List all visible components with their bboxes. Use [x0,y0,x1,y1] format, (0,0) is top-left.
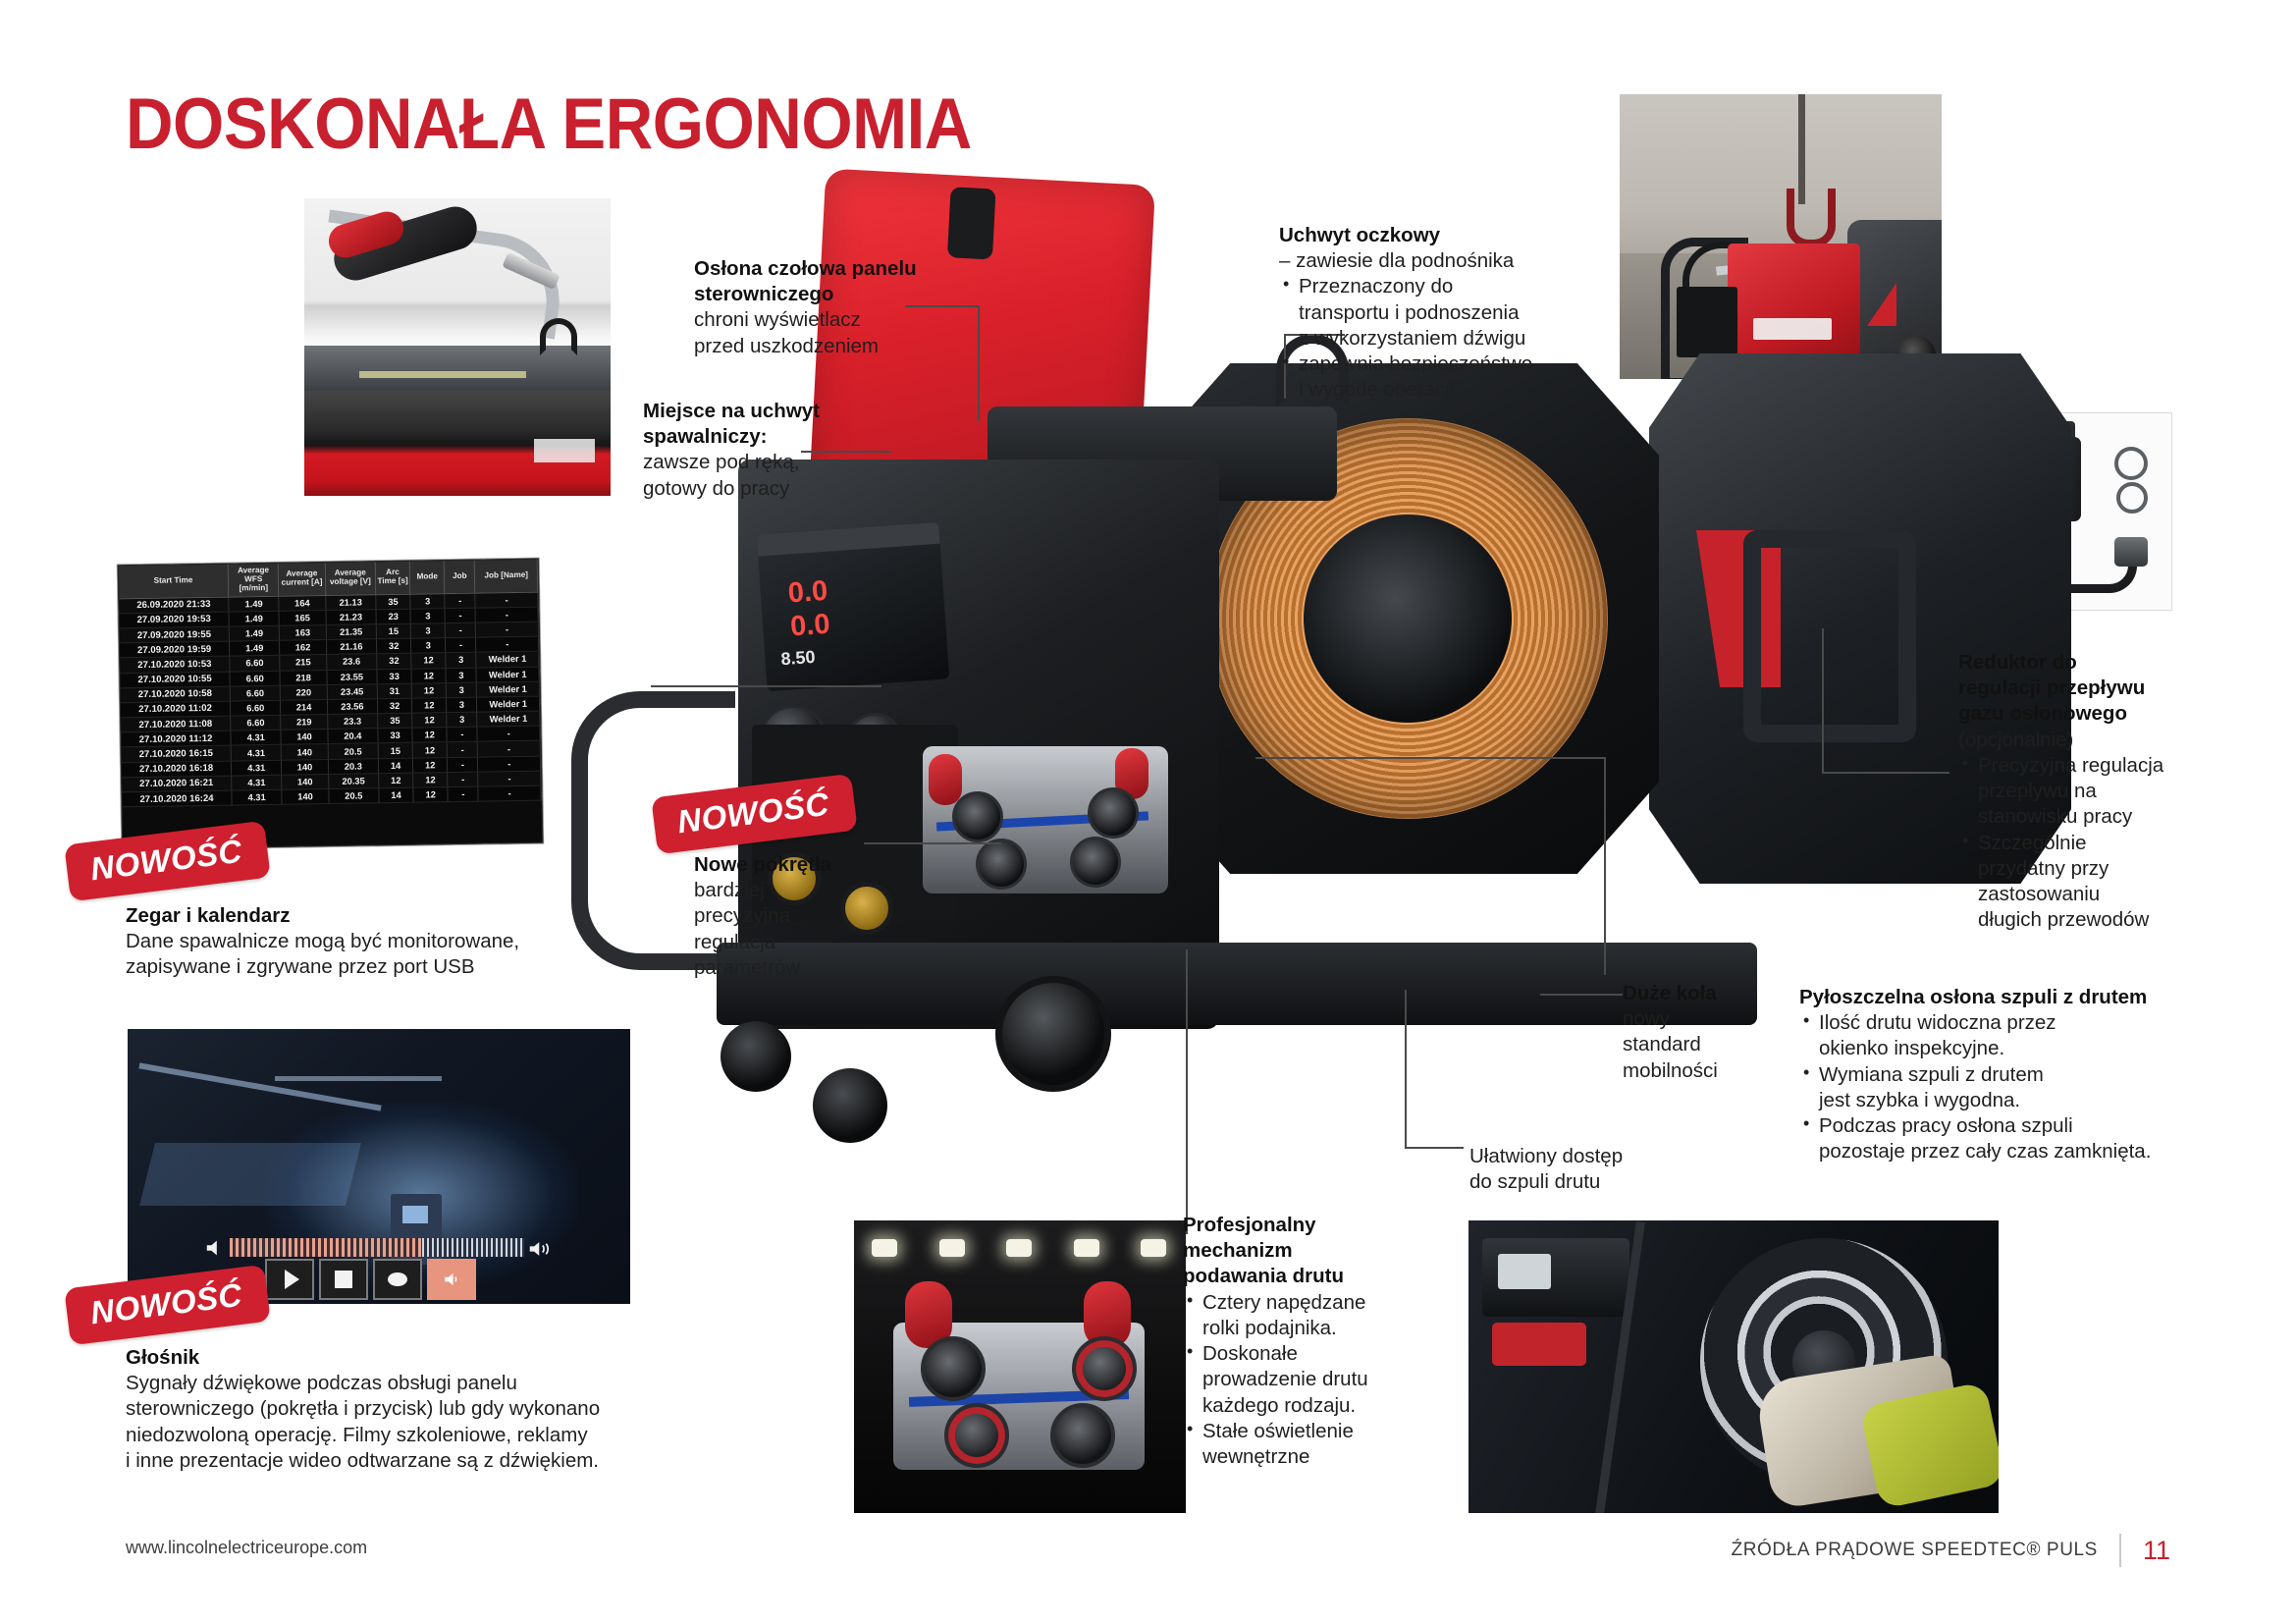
callout-subheading: – zawiesie dla podnośnika [1279,248,1583,274]
table-cell: 1.49 [229,611,280,626]
volume-meter-right [422,1238,524,1257]
bullet-line: wewnętrzne [1202,1444,1428,1470]
table-cell: 21.35 [326,624,377,640]
callout-body: bardziej [694,878,881,903]
callout-body: parametrów [694,955,881,981]
callout-panel-cover: Osłona czołowa panelu sterowniczego chro… [694,256,920,359]
table-cell: 27.10.2020 16:21 [122,776,232,792]
table-cell: - [476,622,539,637]
table-cell: 4.31 [231,731,282,746]
table-cell: 3 [411,638,446,654]
table-cell: - [448,772,478,787]
table-cell: 32 [377,654,411,670]
bullet-line: przepływu na [1978,779,2204,804]
callout-heading: Miejsce na uchwyt [643,399,869,424]
drive-roll [944,1403,1009,1468]
nowosc-badge: NOWOŚĆ [651,774,858,855]
bullet-line: Cztery napędzane [1202,1290,1428,1316]
footer-series-label: ŹRÓDŁA PRĄDOWE SPEEDTEC® PULS [1731,1540,2097,1561]
bullet-line: Ilość drutu widoczna przez [1819,1010,2212,1036]
table-cell: 3 [410,608,445,623]
table-cell: Welder 1 [476,667,539,682]
table-cell: 21.13 [325,594,376,610]
callout-heading: Reduktor do [1958,650,2204,676]
page-title: DOSKONAŁA ERGONOMIA [126,88,972,160]
led-light [939,1239,965,1257]
table-cell: 140 [281,730,328,745]
table-cell: Welder 1 [477,711,540,727]
nowosc-badge: NOWOŚĆ [64,821,271,902]
callout-body: standard [1623,1032,1770,1057]
table-cell: 3 [446,668,476,683]
leader-panel-cover-vert [978,305,980,421]
leader-wire-feeder-vert [1186,949,1188,1234]
table-cell: 32 [377,698,411,714]
table-cell: 163 [280,625,327,641]
feeder-roll [1070,837,1121,888]
panel-display-shape [1498,1254,1551,1289]
table-cell: 12 [413,787,448,803]
bullet-line: i wygodę operacji [1299,377,1583,403]
list-item: Podczas pracy osłona szpuli pozostaje pr… [1799,1113,2212,1164]
table-cell: - [478,756,541,772]
table-cell: 215 [280,655,327,671]
table-cell: - [446,637,476,653]
leader-dust-cover-vert [1604,757,1606,975]
table-cell: 27.09.2020 19:55 [120,626,230,643]
table-cell: 32 [376,638,410,654]
table-cell: 15 [378,743,412,759]
callout-body: Ułatwiony dostęp [1469,1144,1695,1169]
photo-wire-feeder [854,1220,1186,1513]
col-job: Job [445,561,476,594]
table-cell: - [477,726,540,741]
callout-heading: spawalniczy: [643,424,869,450]
rating-label-shape [534,439,595,462]
display-value-bottom: 8.50 [780,647,816,670]
table-cell: 23.6 [326,654,377,670]
callout-dust-cover: Pyłoszczelna osłona szpuli z drutem Iloś… [1799,985,2212,1165]
table-cell: 15 [376,623,410,639]
volume-button[interactable] [427,1259,476,1300]
table-cell: - [475,592,538,608]
table-cell: 20.5 [328,743,379,759]
callout-heading: podawania drutu [1183,1264,1428,1289]
table-cell: 14 [379,787,413,803]
callout-body: mobilności [1623,1058,1770,1084]
table-cell: - [447,742,477,758]
page-number: 11 [2143,1536,2170,1566]
yellow-strip-shape [359,371,526,378]
bullet-line: Stałe oświetlenie [1202,1419,1428,1444]
bullet-line: transportu i podnoszenia [1299,300,1583,326]
bullet-line: Doskonałe [1202,1341,1428,1367]
callout-big-wheels: Duże koła nowy standard mobilności [1623,981,1770,1084]
feeder-roll [1088,787,1139,839]
callout-body: zapisywane i zgrywane przez port USB [126,954,675,980]
list-item: Precyzyjna regulacja przepływu na stanow… [1958,753,2204,831]
table-cell: 21.23 [326,610,377,625]
photo-spool-change [1468,1220,1999,1513]
table-cell: - [478,741,541,757]
table-cell: 164 [279,595,326,611]
callout-heading: gazu osłonowego [1958,701,2204,727]
photo-torch-holder [304,198,611,496]
table-cell: - [475,607,538,623]
callout-body: do szpuli drutu [1469,1169,1695,1195]
callout-heading: Nowe pokrętła [694,852,881,878]
callout-body: niedozwoloną operację. Filmy szkoleniowe… [126,1423,734,1448]
table-cell: 3 [410,593,445,609]
table-cell: 6.60 [230,685,281,701]
table-cell: 6.60 [230,671,281,686]
table-cell: 12 [379,773,413,788]
table-cell: - [446,623,476,638]
list-item: zapewnia bezpieczeństwo i wygodę operacj… [1279,352,1583,403]
table-cell: - [478,771,541,786]
leader-dust-cover [1255,757,1604,759]
nowosc-badge: NOWOŚĆ [64,1265,271,1346]
callout-heading: Głośnik [126,1345,734,1371]
caster-wheel-rear [721,1021,791,1092]
bullet-line: pozostaje przez cały czas zamknięta. [1819,1139,2212,1164]
table-cell: 31 [377,683,411,699]
bullet-line: z wykorzystaniem dźwigu [1299,326,1583,352]
stop-button[interactable] [319,1259,368,1300]
callout-speaker: Głośnik Sygnały dźwiękowe podczas obsług… [126,1345,734,1474]
table-cell: 3 [447,697,477,713]
callout-bullet-list: Ilość drutu widoczna przez okienko inspe… [1799,1010,2212,1164]
brochure-page: DOSKONAŁA ERGONOMIA [0,0,2296,1624]
table-cell: 140 [282,774,329,789]
table-cell: 4.31 [231,745,282,761]
table-cell: 27.09.2020 19:59 [120,641,230,658]
caster-wheel-front [813,1068,887,1143]
callout-bullet-list: Przeznaczony do transportu i podnoszenia… [1279,274,1583,403]
callout-new-knobs: Nowe pokrętła bardziej precyzyjna regula… [694,852,881,981]
callout-body: przed uszkodzeniem [694,334,920,359]
callout-subheading: (opcjonalnie) [1958,728,2204,753]
video-controls[interactable] [265,1259,489,1300]
table-cell: - [448,757,478,773]
bullet-line: Wymiana szpuli z drutem [1819,1062,2212,1088]
table-cell: - [448,786,478,802]
callout-body: Dane spawalnicze mogą być monitorowane, [126,929,675,954]
table-cell: 12 [412,728,447,743]
table-cell: 162 [280,640,327,656]
callout-heading: mechanizm [1183,1238,1428,1264]
callout-spool-access: Ułatwiony dostęp do szpuli drutu [1469,1144,1695,1195]
table-cell: 27.10.2020 11:02 [121,701,231,718]
bullet-line: zastosowaniu [1978,882,2204,907]
bullet-line: każdego rodzaju. [1202,1393,1428,1419]
feeder-roll [976,839,1027,890]
list-item: Szczególnie przydatny przy zastosowaniu … [1958,831,2204,934]
table-cell: 20.4 [328,729,379,744]
table-cell: 140 [282,759,329,775]
col-job-name: Job [Name] [475,560,538,593]
col-avg-wfs: Average WFS [m/min] [228,564,279,597]
table-cell: 140 [282,744,329,760]
table-cell: 35 [378,713,412,729]
table-cell: 33 [377,669,411,684]
callout-body: gotowy do pracy [643,476,869,502]
ceiling-beam-shape [138,1062,381,1110]
leader-big-wheels [1540,994,1623,996]
photo-video-player [128,1029,630,1304]
leader-spool-access-vert [1405,990,1407,1147]
callout-heading: Pyłoszczelna osłona szpuli z drutem [1799,985,2212,1010]
led-light [1141,1239,1166,1257]
table-cell: 20.3 [328,758,379,774]
play-button[interactable] [265,1259,314,1300]
callout-bullet-list: Cztery napędzane rolki podajnika. Doskon… [1183,1290,1428,1471]
footer-right-group: ŹRÓDŁA PRĄDOWE SPEEDTEC® PULS 11 [1731,1534,2170,1567]
table-cell: Welder 1 [477,696,540,712]
table-cell: 27.10.2020 11:12 [121,731,231,747]
led-strip [872,1236,1166,1260]
table-cell: 219 [281,715,328,731]
list-item: Wymiana szpuli z drutem jest szybka i wy… [1799,1062,2212,1113]
bullet-line: jest szybka i wygodna. [1819,1088,2212,1113]
feeder-pressure-knob-left [929,754,962,805]
display-value-top: 0.0 [787,575,829,611]
callout-clock-calendar: Zegar i kalendarz Dane spawalnicze mogą … [126,903,675,981]
bullet-line: okienko inspekcyjne. [1819,1036,2212,1061]
bullet-line: Precyzyjna regulacja [1978,753,2204,779]
callout-body: i inne prezentacje wideo odtwarzane są z… [126,1448,734,1474]
callout-gas-regulator: Reduktor do regulacji przepływu gazu osł… [1958,650,2204,934]
bullet-line: Szczególnie [1978,831,2204,856]
speaker-icon-right [528,1235,554,1263]
callout-heading: sterowniczego [694,282,920,307]
panel-red-shape [1492,1323,1586,1366]
table-cell: 35 [376,594,410,610]
drive-roll [921,1336,986,1401]
drive-roll [1050,1403,1115,1468]
bullet-line: zapewnia bezpieczeństwo [1299,352,1583,377]
table-cell: 3 [447,682,477,698]
callout-body: sterowniczego (pokrętła i przycisk) lub … [126,1396,734,1422]
table-cell: 12 [412,698,447,714]
display-value-mid: 0.0 [789,609,831,644]
table-cell: - [445,593,475,609]
clip-lower-shape [2116,482,2148,514]
table-cell: 27.10.2020 16:15 [122,746,232,763]
list-item: Doskonałe prowadzenie drutu każdego rodz… [1183,1341,1428,1419]
table-cell: 12 [412,713,447,729]
led-light [1006,1239,1032,1257]
table-cell: 1.49 [230,640,281,656]
callout-lifting-eye: Uchwyt oczkowy – zawiesie dla podnośnika… [1279,223,1583,404]
callout-torch-holder: Miejsce na uchwyt spawalniczy: zawsze po… [643,399,869,502]
lid-latch [947,187,996,259]
table-cell: 20.5 [329,788,380,804]
callout-body: nowy [1623,1006,1770,1032]
table-cell: 33 [378,728,412,743]
table-cell: 26.09.2020 21:33 [119,597,229,614]
table-cell: 27.10.2020 10:55 [120,672,230,688]
list-item: Cztery napędzane rolki podajnika. [1183,1290,1428,1341]
table-cell: 20.35 [328,774,379,789]
footer-website[interactable]: www.lincolnelectriceurope.com [126,1538,367,1558]
col-arc-time: Arc Time [s] [375,562,410,595]
led-light [872,1239,897,1257]
table-cell: 23.45 [327,683,378,699]
bullet-line: stanowisku pracy [1978,804,2204,830]
hose-nut-shape [2114,537,2148,567]
list-item: Stałe oświetlenie wewnętrzne [1183,1419,1428,1470]
callout-heading: Zegar i kalendarz [126,903,675,929]
callout-body: chroni wyświetlacz [694,307,920,333]
table-cell: 27.10.2020 10:53 [120,656,230,673]
footer-divider [2119,1534,2121,1567]
leader-spool-access [1405,1147,1464,1149]
callout-body: zawsze pod ręką, [643,450,869,475]
table-cell: 3 [446,652,476,668]
big-wheel [995,976,1111,1092]
weld-log-table: Start Time Average WFS [m/min] Average c… [119,560,542,808]
leader-new-knobs [864,842,1001,844]
display-topbar [757,522,940,557]
bullet-line: przydatny przy [1978,856,2204,882]
list-item: Przeznaczony do transportu i podnoszenia… [1279,274,1583,352]
callout-heading: Profesjonalny [1183,1213,1428,1238]
leader-gas-regulator-vert [1822,628,1824,772]
weld-log-table-photo: Start Time Average WFS [m/min] Average c… [118,559,544,850]
table-cell: 12 [411,682,446,698]
col-start-time: Start Time [119,565,229,599]
table-cell: 27.09.2020 19:53 [120,612,230,628]
callout-heading: Osłona czołowa panelu [694,256,920,282]
table-cell: 1.49 [229,625,280,641]
ceiling-light-shape [275,1076,442,1081]
table-cell: 23.3 [327,714,378,730]
table-cell: 218 [280,670,327,685]
callout-body: regulacja [694,930,881,955]
callout-body: Sygnały dźwiękowe podczas obsługi panelu [126,1371,734,1396]
table-cell: 27.10.2020 10:58 [121,686,231,703]
table-cell: 3 [447,712,477,728]
drive-roll [1072,1336,1137,1401]
table-cell: 6.60 [230,700,281,716]
table-cell: 12 [413,772,448,787]
speaker-icon-left [204,1235,226,1261]
table-cell: 6.60 [231,715,282,731]
hook-shape [540,318,577,355]
control-display: 0.0 0.0 8.50 [757,522,950,692]
table-cell: 4.31 [231,760,282,776]
table-cell: 214 [281,699,328,715]
table-cell: 12 [413,757,448,773]
callout-heading: regulacji przepływu [1958,676,2204,701]
badge-nowosc-knobs-wrap: NOWOŚĆ [654,785,855,842]
badge-nowosc-clock-wrap: NOWOŚĆ [67,833,268,890]
table-cell: 21.16 [326,639,377,655]
table-cell: 23 [376,609,410,624]
callout-body: precyzyjna [694,903,881,929]
table-cell: 23.55 [327,669,378,684]
callout-wire-feeder: Profesjonalny mechanizm podawania drutu … [1183,1213,1428,1470]
bullet-line: Przeznaczony do [1299,274,1583,299]
list-item: Ilość drutu widoczna przez okienko inspe… [1799,1010,2212,1061]
table-body: 26.09.2020 21:331.4916421.13353--27.09.2… [119,592,541,807]
table-cell: 12 [411,668,446,683]
table-cell: 140 [282,789,329,805]
led-light [1074,1239,1099,1257]
table-cell: 3 [410,623,445,639]
feeder-roll [952,791,1003,842]
eject-button[interactable] [373,1259,422,1300]
table-cell: 12 [412,742,447,758]
callout-heading: Uchwyt oczkowy [1279,223,1583,248]
leader-weld-log [651,685,881,687]
callout-bullet-list: Precyzyjna regulacja przepływu na stanow… [1958,753,2204,934]
table-cell: 6.60 [230,656,281,672]
table-cell: 27.10.2020 11:08 [121,716,231,732]
table-cell: - [447,727,477,742]
table-cell: 27.10.2020 16:24 [122,790,232,807]
table-cell: 220 [281,684,328,700]
bullet-line: długich przewodów [1978,907,2204,933]
table-cell: 23.56 [327,699,378,715]
table-cell: 14 [378,758,412,774]
table-cell: - [445,608,475,623]
table-cell: 4.31 [232,789,283,805]
door-handle-slot [1743,530,1916,742]
badge-nowosc-speaker-wrap: NOWOŚĆ [67,1276,268,1333]
col-avg-current: Average current [A] [279,563,326,596]
col-avg-voltage: Average voltage [V] [325,562,376,595]
feeder-mechanism [923,746,1168,893]
table-cell: - [476,636,539,652]
table-cell: 4.31 [232,775,283,790]
leader-gas-regulator [1822,772,1949,774]
table-cell: - [478,785,541,801]
table-cell: 27.10.2020 16:18 [122,761,232,778]
table-cell: Welder 1 [476,651,539,667]
col-mode: Mode [409,561,445,594]
bullet-line: Podczas pracy osłona szpuli [1819,1113,2212,1139]
callout-heading: Duże koła [1623,981,1770,1006]
bullet-line: prowadzenie drutu [1202,1367,1428,1392]
table-cell: 165 [279,610,326,625]
clip-upper-shape [2114,447,2148,480]
table-cell: Welder 1 [477,681,540,697]
bullet-line: rolki podajnika. [1202,1316,1428,1341]
table-cell: 1.49 [229,596,280,612]
table-cell: 12 [411,653,446,669]
